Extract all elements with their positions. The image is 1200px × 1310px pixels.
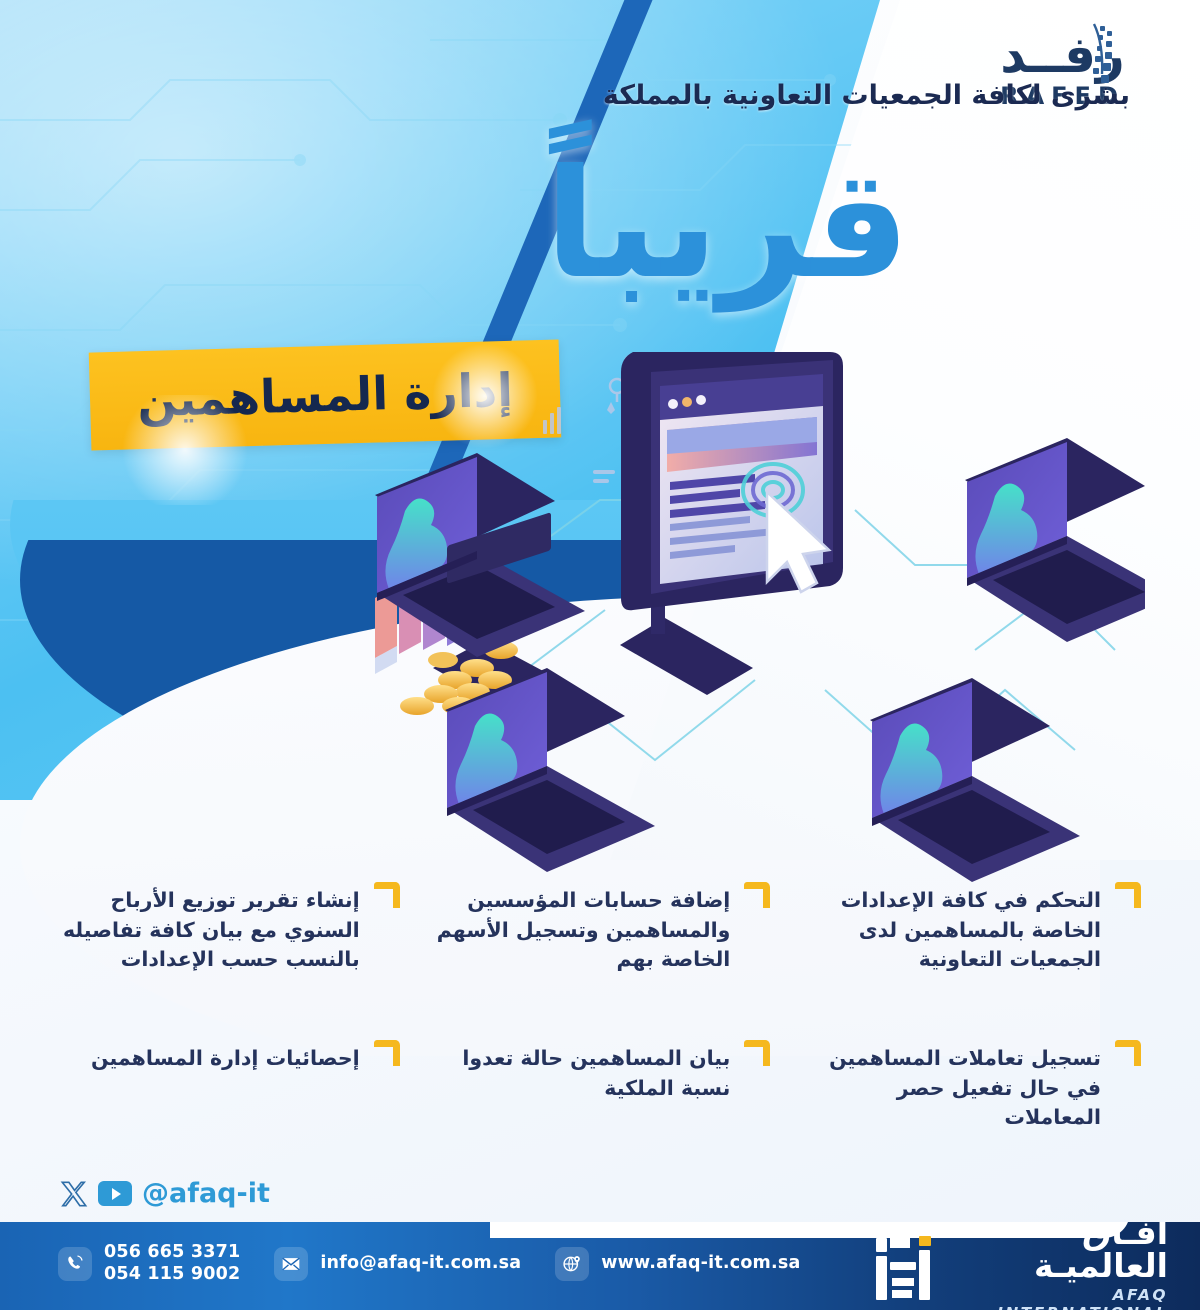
youtube-icon[interactable] xyxy=(98,1181,132,1206)
infographic-poster: رفــد RAFED بشرى لكافة الجمعيات التعاوني… xyxy=(0,0,1200,1310)
corner-bracket-icon xyxy=(744,882,770,908)
globe-pin-icon xyxy=(555,1247,589,1281)
phone-line-2: 054 115 9002 xyxy=(104,1264,240,1286)
footer-bar: 056 665 3371 054 115 9002 info@afaq-it.c… xyxy=(0,1222,1200,1310)
social-row: @afaq-it xyxy=(60,1178,270,1209)
feature-item-transactions-log: تسجيل تعاملات المساهمين في حال تفعيل حصر… xyxy=(796,1038,1145,1138)
page-title: قريباً xyxy=(545,150,910,300)
corner-bracket-icon xyxy=(1115,1040,1141,1066)
contact-website[interactable]: www.afaq-it.com.sa xyxy=(555,1247,800,1281)
feature-item-profit-report: إنشاء تقرير توزيع الأرباح السنوي مع بيان… xyxy=(55,880,404,980)
corner-bracket-icon xyxy=(744,1040,770,1066)
phone-numbers: 056 665 3371 054 115 9002 xyxy=(104,1242,240,1286)
feature-text: إنشاء تقرير توزيع الأرباح السنوي مع بيان… xyxy=(61,886,360,975)
feature-grid: التحكم في كافة الإعدادات الخاصة بالمساهم… xyxy=(55,880,1145,1138)
feature-item-statistics: إحصائيات إدارة المساهمين xyxy=(55,1038,404,1138)
afaq-latin-name: AFAQ INTERNATIONAL xyxy=(956,1286,1168,1310)
corner-bracket-icon xyxy=(374,882,400,908)
laptop-bottom-right xyxy=(870,678,1080,882)
corner-bracket-icon xyxy=(1115,882,1141,908)
feature-item-add-accounts: إضافة حسابات المؤسسين والمساهمين وتسجيل … xyxy=(426,880,775,980)
social-handle[interactable]: @afaq-it xyxy=(142,1178,270,1209)
feature-text: التحكم في كافة الإعدادات الخاصة بالمساهم… xyxy=(802,886,1101,975)
afaq-arabic-name: آفـاق العالميـة xyxy=(956,1222,1168,1282)
phone-icon xyxy=(58,1247,92,1281)
feature-item-ownership-exceeded: بيان المساهمين حالة تعدوا نسبة الملكية xyxy=(426,1038,775,1138)
envelope-icon xyxy=(274,1247,308,1281)
afaq-logo: آفـاق العالميـة AFAQ INTERNATIONAL xyxy=(868,1232,1168,1306)
monitor-device xyxy=(620,352,843,695)
phone-line-1: 056 665 3371 xyxy=(104,1242,240,1262)
feature-text: تسجيل تعاملات المساهمين في حال تفعيل حصر… xyxy=(802,1044,1101,1133)
contact-phone[interactable]: 056 665 3371 054 115 9002 xyxy=(58,1242,240,1286)
kicker-text: بشرى لكافة الجمعيات التعاونية بالمملكة xyxy=(510,80,1130,111)
feature-text: بيان المساهمين حالة تعدوا نسبة الملكية xyxy=(432,1044,731,1103)
afaq-monogram-icon xyxy=(868,1236,946,1302)
laptop-bottom-left xyxy=(445,668,655,872)
contact-email[interactable]: info@afaq-it.com.sa xyxy=(274,1247,521,1281)
isometric-illustration xyxy=(355,350,1145,890)
x-twitter-icon[interactable] xyxy=(60,1180,88,1208)
feature-item-settings-control: التحكم في كافة الإعدادات الخاصة بالمساهم… xyxy=(796,880,1145,980)
email-address: info@afaq-it.com.sa xyxy=(320,1253,521,1275)
laptop-top-right xyxy=(965,438,1145,642)
website-url: www.afaq-it.com.sa xyxy=(601,1253,800,1275)
feature-text: إحصائيات إدارة المساهمين xyxy=(61,1044,360,1074)
contact-list: 056 665 3371 054 115 9002 info@afaq-it.c… xyxy=(58,1242,800,1286)
corner-bracket-icon xyxy=(374,1040,400,1066)
feature-text: إضافة حسابات المؤسسين والمساهمين وتسجيل … xyxy=(432,886,731,975)
